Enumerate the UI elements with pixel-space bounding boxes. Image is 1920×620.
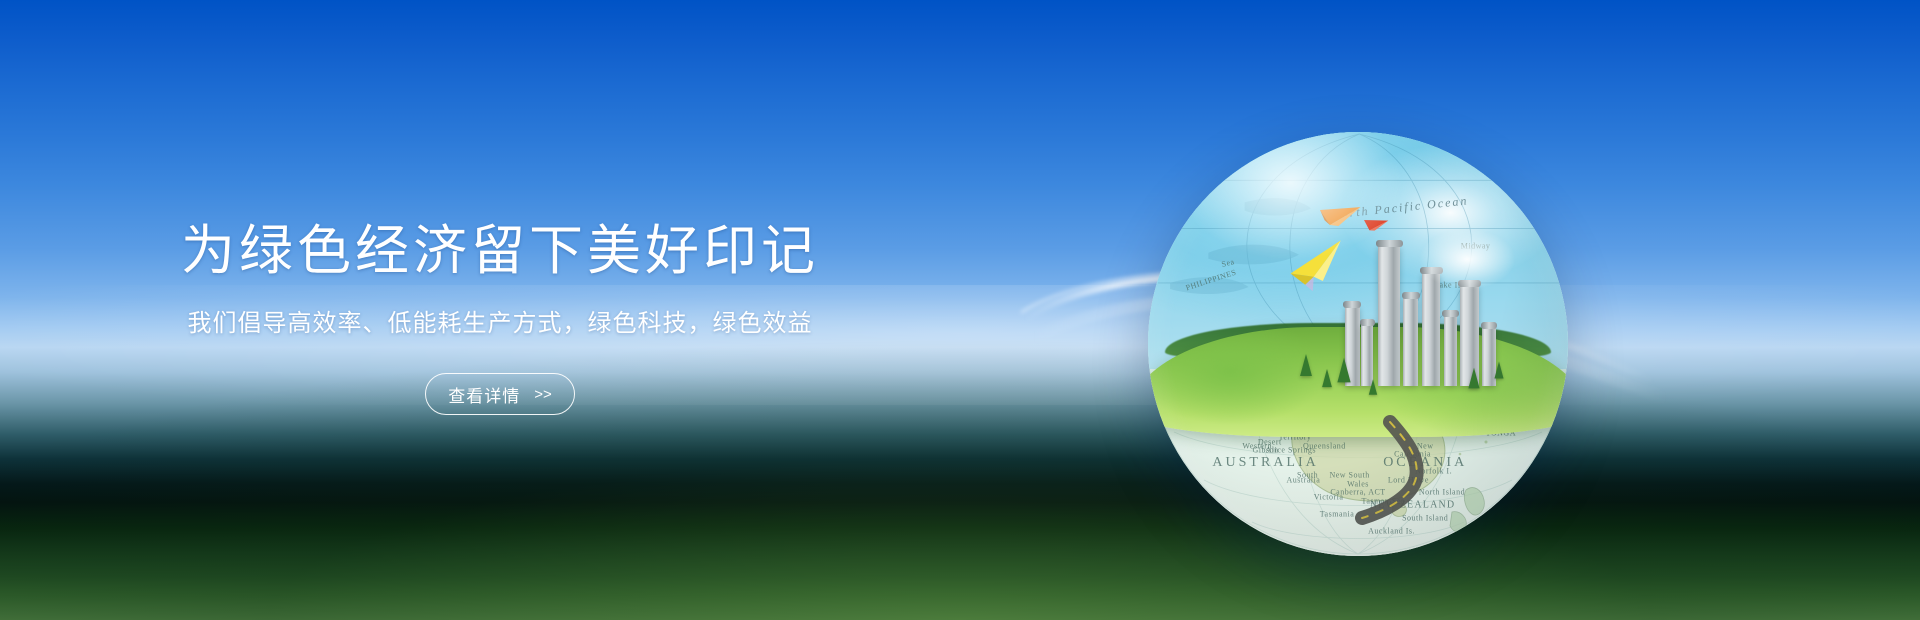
hero-copy: 为绿色经济留下美好印记 我们倡导高效率、低能耗生产方式，绿色科技，绿色效益 查看… — [0, 220, 1000, 415]
view-details-button[interactable]: 查看详情 >> — [425, 373, 575, 415]
glass-globe: North Pacific OceanMidwayWake IslandPHIL… — [1148, 132, 1568, 556]
globe-graphic: North Pacific OceanMidwayWake IslandPHIL… — [1148, 132, 1568, 556]
cta-container: 查看详情 >> — [0, 373, 1000, 415]
paper-planes-icon — [1148, 132, 1568, 556]
hero-banner: North Pacific OceanMidwayWake IslandPHIL… — [0, 0, 1920, 620]
page-title: 为绿色经济留下美好印记 — [0, 220, 1000, 282]
page-subtitle: 我们倡导高效率、低能耗生产方式，绿色科技，绿色效益 — [0, 308, 1000, 339]
cta-label: 查看详情 — [448, 382, 520, 407]
chevron-right-icon: >> — [534, 386, 552, 403]
